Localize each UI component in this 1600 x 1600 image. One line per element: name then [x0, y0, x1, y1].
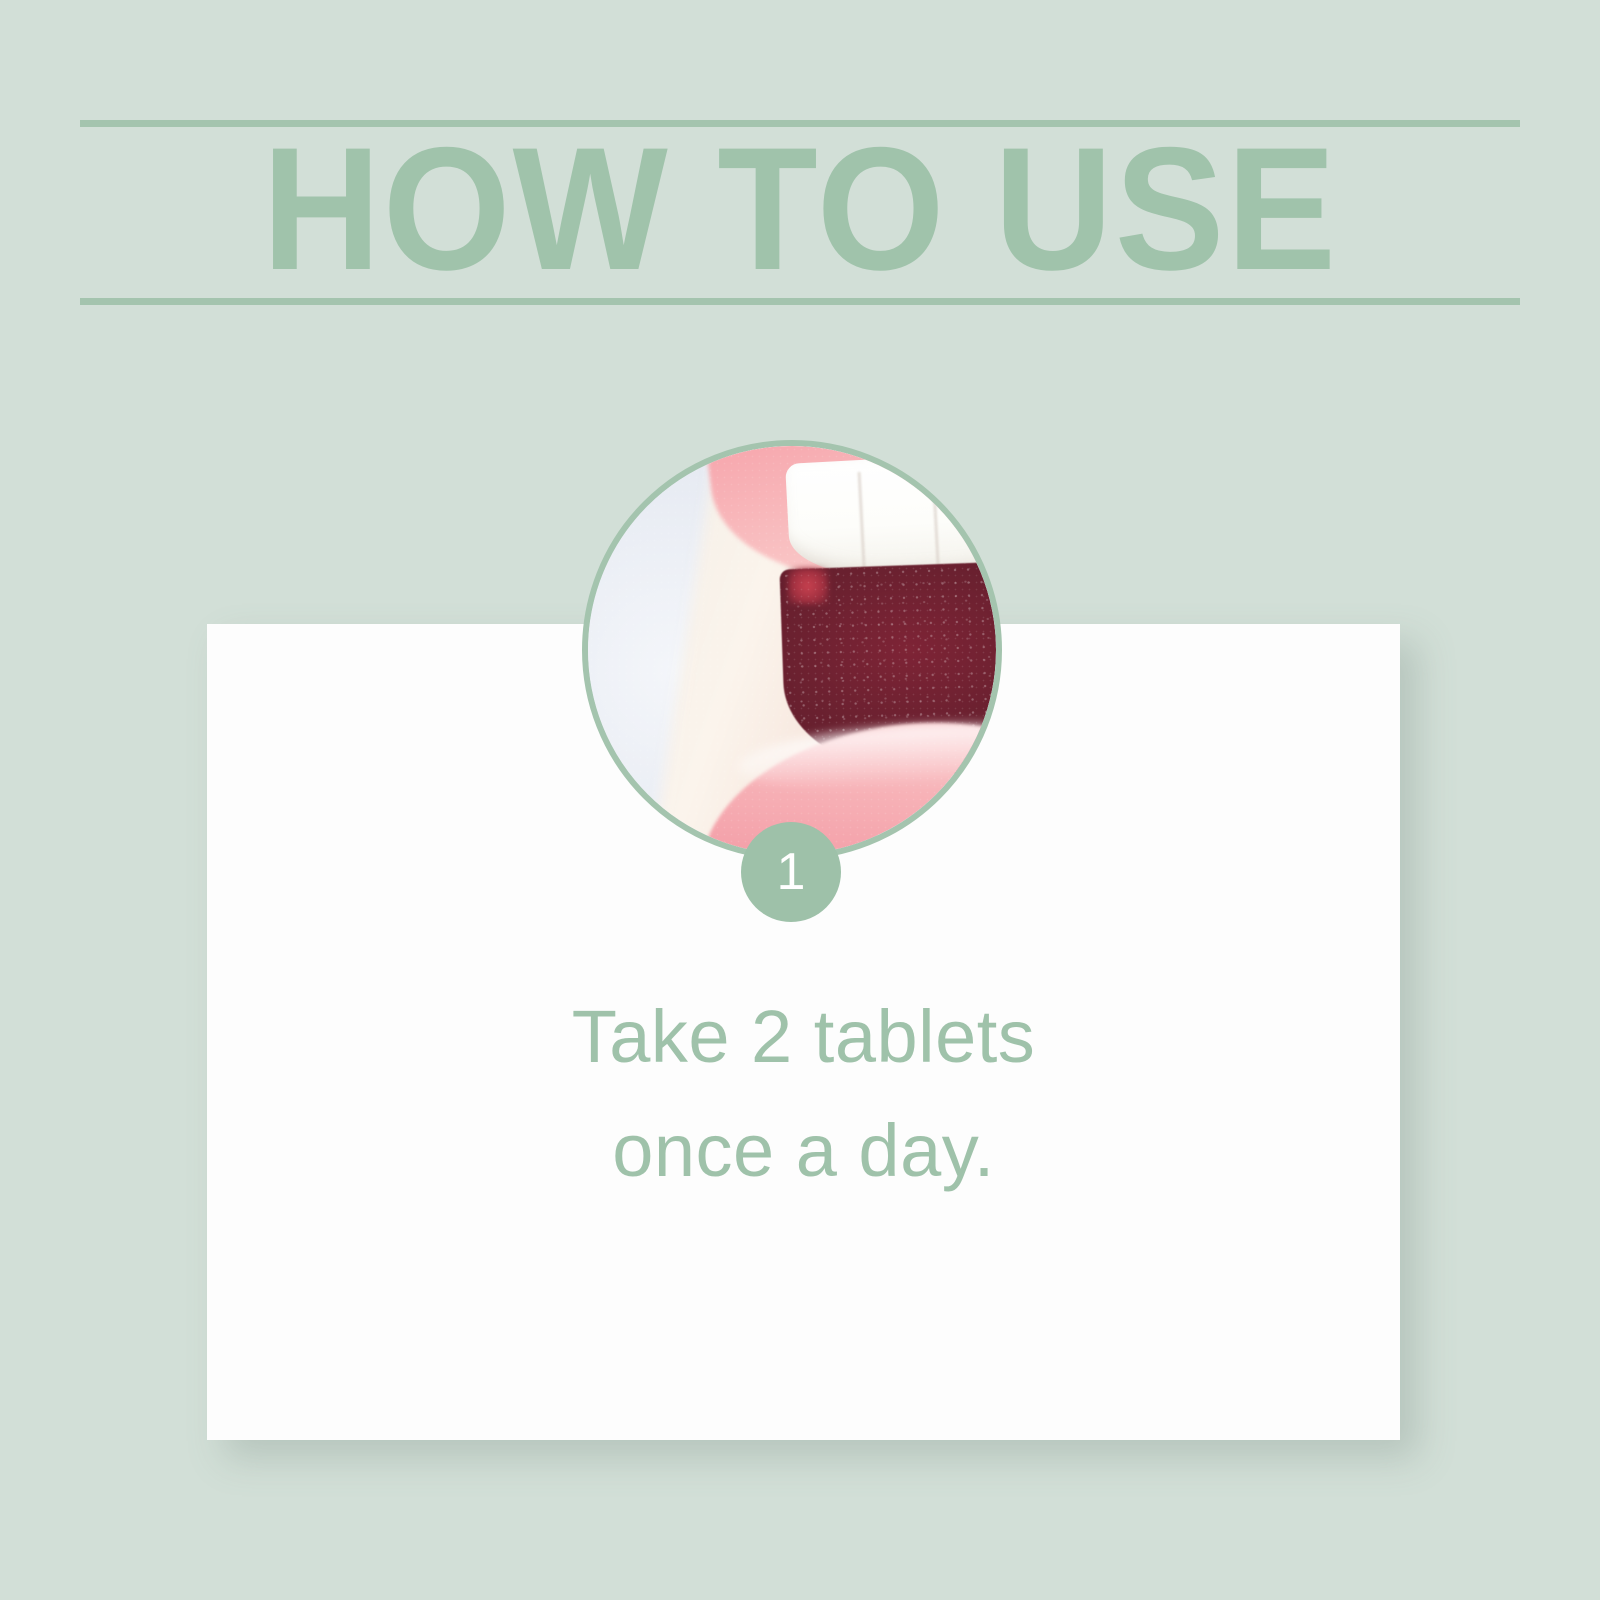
photo-inner	[588, 446, 996, 854]
step-number-label: 1	[777, 846, 806, 898]
page-header: HOW TO USE	[80, 112, 1520, 312]
instruction-line-1: Take 2 tablets	[207, 980, 1400, 1094]
photo-grain-layer	[588, 446, 996, 854]
open-mouth-photo	[582, 440, 1002, 860]
step-number-badge: 1	[741, 822, 841, 922]
header-bottom-rule	[80, 298, 1520, 305]
instruction-line-2: once a day.	[207, 1094, 1400, 1208]
step-instruction-text: Take 2 tablets once a day.	[207, 980, 1400, 1208]
step-image-wrapper	[582, 440, 1002, 860]
page-title: HOW TO USE	[123, 126, 1477, 294]
